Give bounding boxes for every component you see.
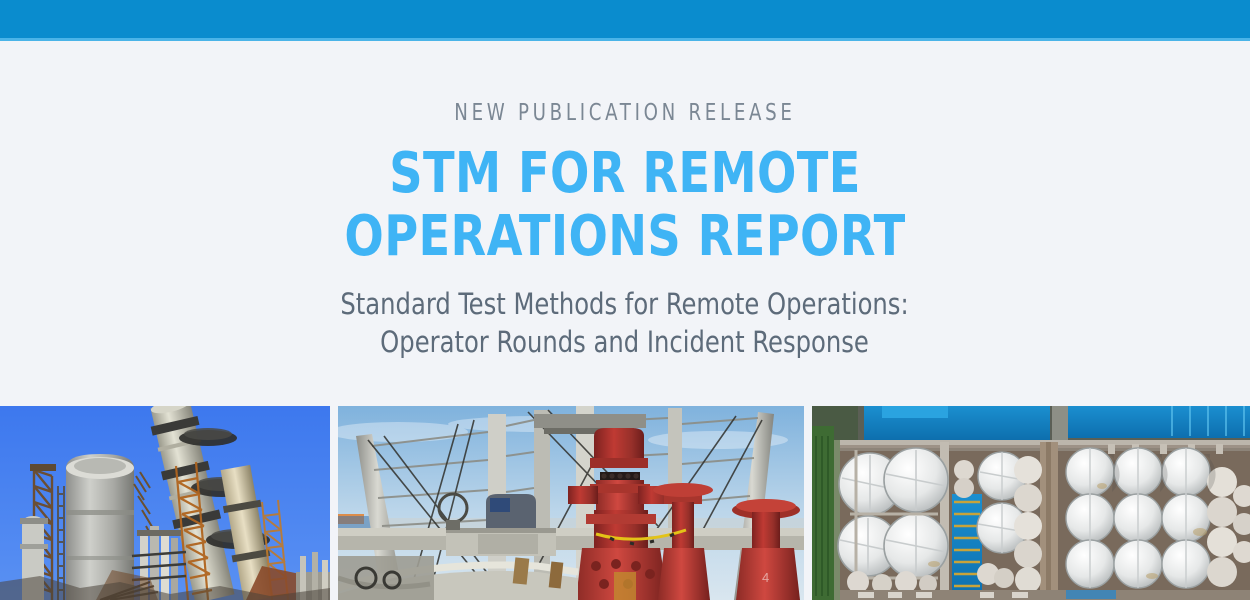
photo-strip: Industrial refinery with concrete silo a… bbox=[0, 406, 1250, 600]
publication-release-banner: NEW PUBLICATION RELEASE STM FOR REMOTE O… bbox=[0, 0, 1250, 600]
eyebrow-label: NEW PUBLICATION RELEASE bbox=[454, 102, 795, 125]
wellhead-christmas-tree-photo: Red painted wellhead valves and drilling… bbox=[338, 406, 804, 600]
page-title: STM FOR REMOTE OPERATIONS REPORT bbox=[294, 143, 956, 268]
tank-farm-aerial-photo: Aerial top-down view of a tank farm with… bbox=[812, 406, 1250, 600]
subtitle-line-1: Standard Test Methods for Remote Operati… bbox=[341, 287, 909, 321]
hero-text-block: NEW PUBLICATION RELEASE STM FOR REMOTE O… bbox=[0, 41, 1250, 406]
subtitle: Standard Test Methods for Remote Operati… bbox=[341, 286, 909, 360]
subtitle-line-2: Operator Rounds and Incident Response bbox=[381, 325, 870, 359]
top-brand-bar bbox=[0, 0, 1250, 38]
refinery-towers-photo: Industrial refinery with concrete silo a… bbox=[0, 406, 330, 600]
svg-text:4: 4 bbox=[762, 570, 769, 585]
